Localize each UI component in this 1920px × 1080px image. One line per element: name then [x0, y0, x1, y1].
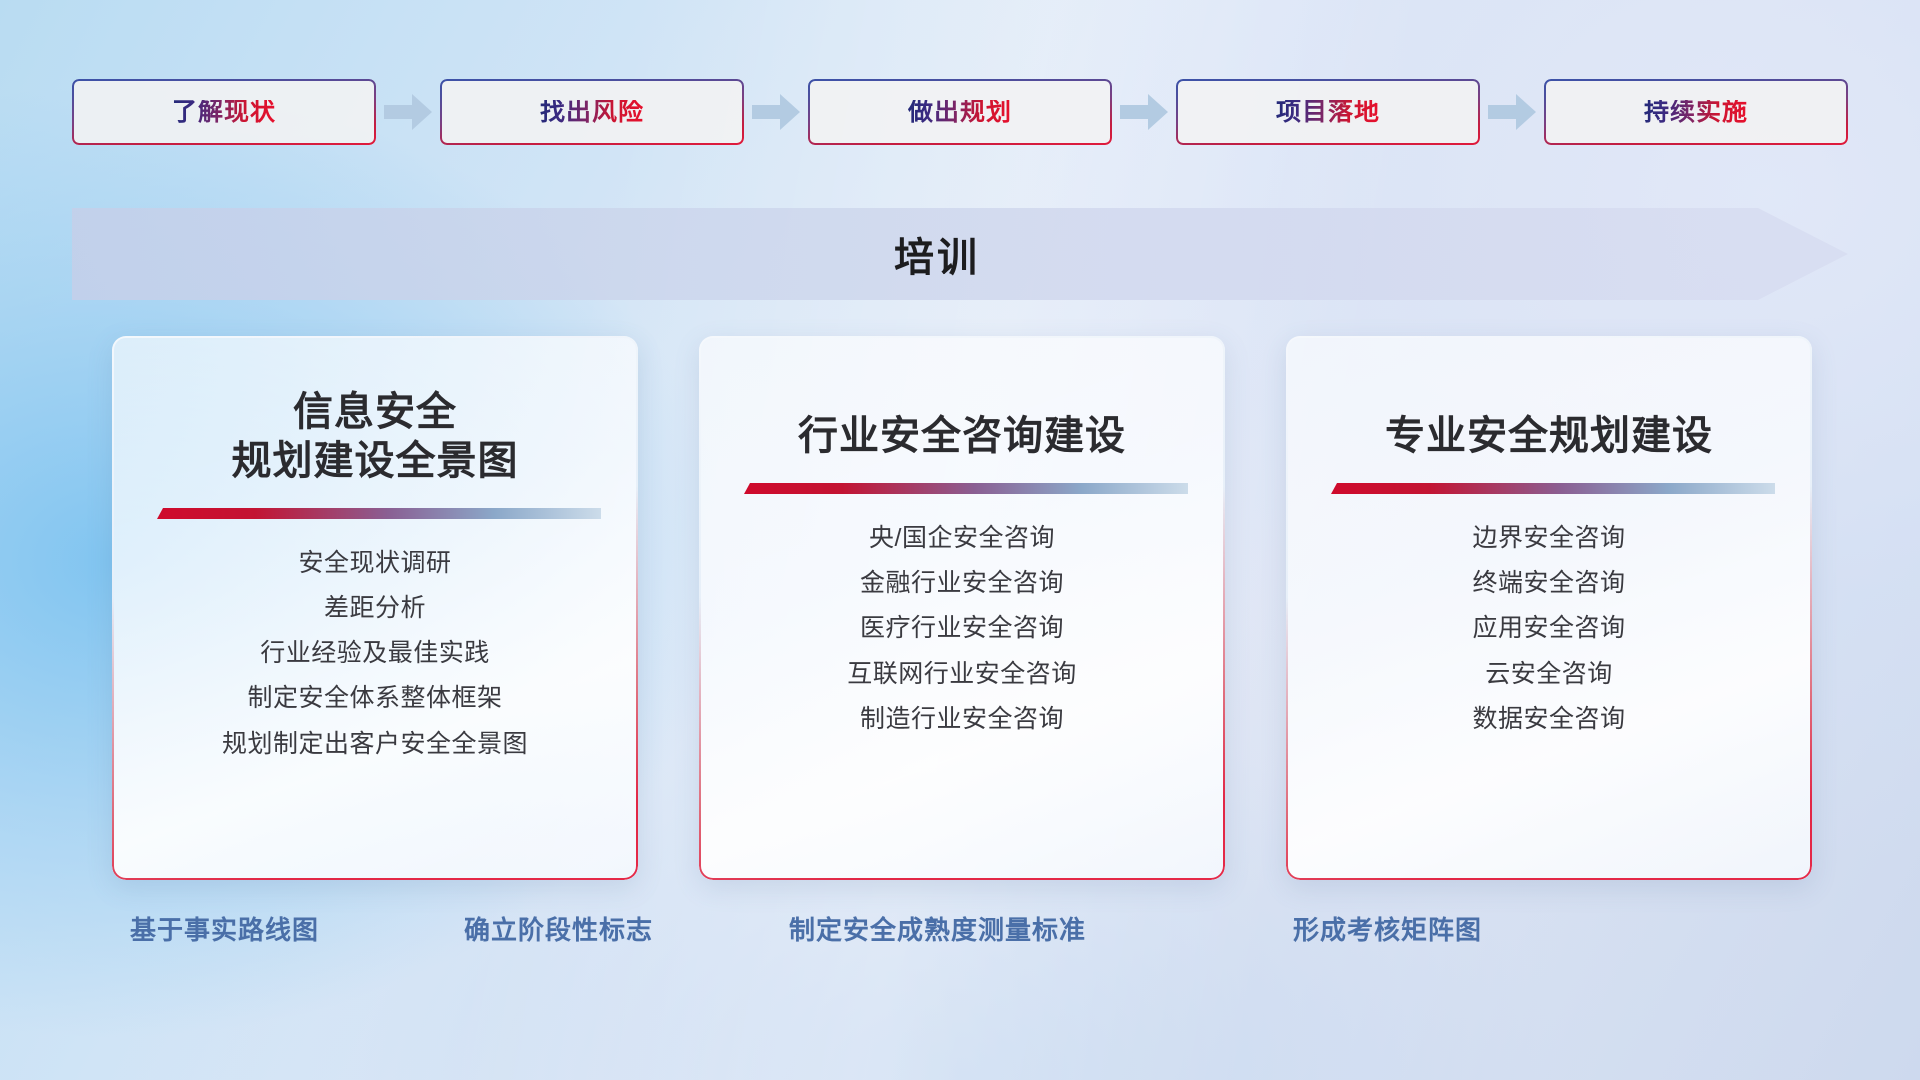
step-label-3: 做出规划: [908, 100, 1012, 125]
list-item: 云安全咨询: [1485, 656, 1613, 692]
caption-3: 制定安全成熟度测量标准: [789, 910, 1086, 947]
caption-2: 确立阶段性标志: [464, 910, 653, 947]
list-item: 终端安全咨询: [1472, 565, 1625, 601]
caption-4: 形成考核矩阵图: [1293, 910, 1482, 947]
training-banner: 培训: [72, 208, 1848, 300]
card-1-divider: [149, 508, 601, 519]
list-item: 制造行业安全咨询: [860, 701, 1064, 737]
caption-1: 基于事实路线图: [130, 910, 319, 947]
list-item: 应用安全咨询: [1472, 610, 1625, 646]
card-3-divider: [1323, 483, 1775, 494]
step-box-4[interactable]: 项目落地: [1176, 79, 1480, 145]
list-item: 医疗行业安全咨询: [860, 610, 1064, 646]
gradient-rule-icon: [736, 483, 1188, 494]
arrow-right-icon: [1120, 94, 1168, 130]
card-3-list: 边界安全咨询 终端安全咨询 应用安全咨询 云安全咨询 数据安全咨询: [1472, 520, 1625, 737]
list-item: 互联网行业安全咨询: [847, 656, 1077, 692]
arrow-right-icon: [384, 94, 432, 130]
list-item: 安全现状调研: [298, 545, 451, 581]
step-label-5: 持续实施: [1644, 100, 1748, 125]
step-box-2[interactable]: 找出风险: [440, 79, 744, 145]
step-box-3[interactable]: 做出规划: [808, 79, 1112, 145]
card-3-title: 专业安全规划建设: [1385, 412, 1713, 461]
card-2-title: 行业安全咨询建设: [798, 412, 1126, 461]
list-item: 央/国企安全咨询: [869, 520, 1055, 556]
step-arrow-3: [1112, 94, 1176, 130]
card-3[interactable]: 专业安全规划建设 边界安全咨询: [1286, 336, 1812, 880]
list-item: 数据安全咨询: [1472, 701, 1625, 737]
step-label-2: 找出风险: [540, 100, 644, 125]
banner-title: 培训: [72, 208, 1802, 300]
gradient-rule-icon: [149, 508, 601, 519]
list-item: 金融行业安全咨询: [860, 565, 1064, 601]
list-item: 差距分析: [324, 590, 426, 626]
step-arrow-4: [1480, 94, 1544, 130]
caption-row: 基于事实路线图 确立阶段性标志 制定安全成熟度测量标准 形成考核矩阵图: [0, 910, 1920, 956]
step-label-4: 项目落地: [1276, 100, 1380, 125]
step-box-5[interactable]: 持续实施: [1544, 79, 1848, 145]
list-item: 制定安全体系整体框架: [247, 680, 502, 716]
list-item: 行业经验及最佳实践: [260, 635, 490, 671]
step-arrow-2: [744, 94, 808, 130]
card-1-title: 信息安全 规划建设全景图: [232, 388, 519, 486]
card-2[interactable]: 行业安全咨询建设 央/国企安全咨询: [699, 336, 1225, 880]
step-arrow-1: [376, 94, 440, 130]
card-row: 信息安全 规划建设全景图 安全现状调研: [112, 336, 1812, 880]
arrow-right-icon: [752, 94, 800, 130]
list-item: 规划制定出客户安全全景图: [222, 726, 528, 762]
card-2-divider: [736, 483, 1188, 494]
card-1[interactable]: 信息安全 规划建设全景图 安全现状调研: [112, 336, 638, 880]
step-label-1: 了解现状: [172, 100, 276, 125]
card-2-list: 央/国企安全咨询 金融行业安全咨询 医疗行业安全咨询 互联网行业安全咨询 制造行…: [847, 520, 1077, 737]
gradient-rule-icon: [1323, 483, 1775, 494]
arrow-right-icon: [1488, 94, 1536, 130]
list-item: 边界安全咨询: [1472, 520, 1625, 556]
process-step-row: 了解现状 找出风险 做出规划 项目落地 持续实施: [72, 78, 1848, 146]
step-box-1[interactable]: 了解现状: [72, 79, 376, 145]
card-1-list: 安全现状调研 差距分析 行业经验及最佳实践 制定安全体系整体框架 规划制定出客户…: [222, 545, 528, 762]
